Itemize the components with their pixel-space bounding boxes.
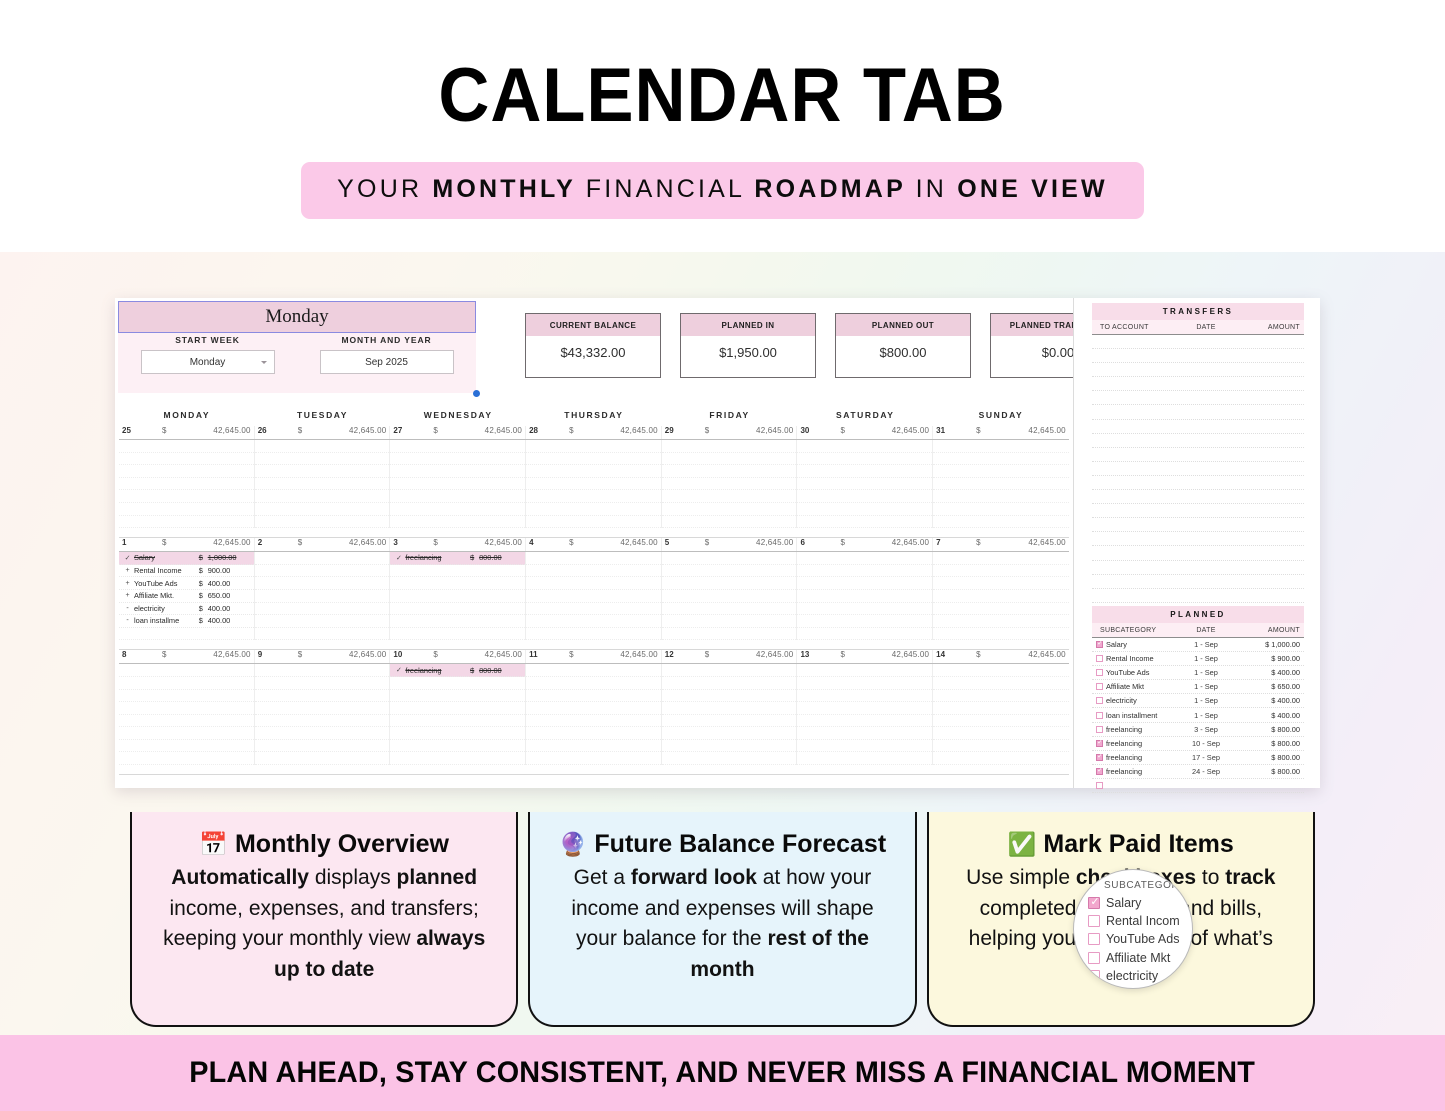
day-running-balance: $42,645.00 [148,426,251,435]
empty-row [119,490,254,503]
selected-cell-title[interactable]: Monday [118,301,476,333]
magnified-label: Rental Incom [1106,914,1180,928]
empty-row [526,503,661,516]
day-cell[interactable] [390,440,526,528]
empty-row [933,516,1069,529]
empty-row [662,664,797,677]
transfers-col-to-account: TO ACCOUNT [1092,324,1178,331]
day-cell[interactable]: ✓Salary$1,000.00+Rental Income$900.00+Yo… [119,552,255,640]
transaction-marker[interactable]: + [121,567,134,574]
summary-card-value: $1,950.00 [681,336,815,379]
planned-row-checkbox[interactable] [1092,655,1106,662]
day-cell[interactable] [797,664,933,765]
day-header-cell[interactable]: 27$42,645.00 [390,426,526,439]
planned-row-subcategory: electricity [1106,696,1178,705]
transaction-currency: $ [199,566,208,575]
transfer-row[interactable] [1092,405,1304,419]
day-number-row: 7$42,645.00 [933,538,1069,551]
transaction-row[interactable]: +Affiliate Mkt.$650.00 [119,590,254,603]
day-header-cell[interactable]: 5$42,645.00 [662,538,798,551]
planned-rows: Salary1 - Sep$ 1,000.00Rental Income1 - … [1092,638,1304,793]
transfers-panel: TRANSFERS TO ACCOUNT DATE AMOUNT [1092,303,1304,620]
day-header-cell[interactable]: 11$42,645.00 [526,650,662,663]
day-header-cell[interactable]: 31$42,645.00 [933,426,1069,439]
transfer-row[interactable] [1092,589,1304,603]
summary-card-value: $43,332.00 [526,336,660,379]
day-running-balance: $42,645.00 [148,538,251,547]
empty-row [662,516,797,529]
empty-row [797,490,932,503]
planned-row-date: 24 - Sep [1178,767,1234,776]
empty-row [119,440,254,453]
transaction-row[interactable]: ✓freelancing$800.00 [390,664,525,677]
day-number-row: 4$42,645.00 [526,538,661,551]
day-running-balance: $42,645.00 [148,650,251,659]
planned-row-checkbox[interactable] [1092,782,1106,789]
empty-row [933,727,1069,740]
empty-row [933,478,1069,491]
planned-row[interactable]: freelancing10 - Sep$ 800.00 [1092,737,1304,751]
planned-row[interactable]: Rental Income1 - Sep$ 900.00 [1092,652,1304,666]
transaction-marker[interactable]: ✓ [392,554,405,562]
transfer-row[interactable] [1092,561,1304,575]
screenshot-stage: Monday START WEEK Monday MONTH AND YEAR … [0,252,1445,1035]
planned-row-subcategory: YouTube Ads [1106,668,1178,677]
empty-row [255,503,390,516]
feature-card-title: 🔮 Future Balance Forecast [552,830,892,859]
empty-row [119,727,254,740]
empty-row [390,453,525,466]
transaction-row[interactable]: -loan installme$400.00 [119,615,254,628]
day-number-row: 11$42,645.00 [526,650,661,663]
day-running-balance: $42,645.00 [691,538,794,547]
day-header-cell[interactable]: 10$42,645.00 [390,650,526,663]
day-number: 11 [529,650,555,659]
empty-row [797,440,932,453]
transfers-col-amount: AMOUNT [1234,324,1304,331]
transfer-row[interactable] [1092,476,1304,490]
transaction-currency: $ [199,579,208,588]
magnified-checkbox[interactable] [1082,897,1106,909]
empty-row [933,740,1069,753]
magnified-label: Salary [1106,896,1141,910]
empty-row [662,702,797,715]
empty-row [119,453,254,466]
planned-row[interactable]: YouTube Ads1 - Sep$ 400.00 [1092,666,1304,680]
planned-columns: SUBCATEGORY DATE AMOUNT [1092,623,1304,638]
day-cell[interactable] [933,440,1069,528]
day-cell[interactable] [662,440,798,528]
day-header-cell[interactable]: 8$42,645.00 [119,650,255,663]
week-separator [119,765,1069,775]
empty-row [797,603,932,616]
day-header-cell[interactable]: 26$42,645.00 [255,426,391,439]
weekday-label: SUNDAY [933,410,1069,420]
month-year-field: MONTH AND YEAR Sep 2025 [297,335,476,374]
day-header-cell[interactable]: 1$42,645.00 [119,538,255,551]
planned-row-date: 1 - Sep [1178,668,1234,677]
page-title: CALENDAR TAB [439,58,1006,134]
empty-row [933,565,1069,578]
planned-row[interactable]: freelancing24 - Sep$ 800.00 [1092,765,1304,779]
transfer-row[interactable] [1092,434,1304,448]
feature-card-body: Automatically displays planned income, e… [154,863,494,986]
day-cell[interactable] [526,664,662,765]
day-running-balance: $42,645.00 [284,426,387,435]
day-cell[interactable]: ✓freelancing$800.00 [390,664,526,765]
transfer-row[interactable] [1092,349,1304,363]
day-number: 2 [258,538,284,547]
day-number-row: 8$42,645.00 [119,650,254,663]
empty-row [662,615,797,628]
empty-row [526,603,661,616]
day-header-cell[interactable]: 28$42,645.00 [526,426,662,439]
calendar-week: 1$42,645.002$42,645.003$42,645.004$42,64… [119,538,1069,650]
day-header-cell[interactable]: 4$42,645.00 [526,538,662,551]
planned-col-date: DATE [1178,627,1234,634]
spreadsheet-screenshot: Monday START WEEK Monday MONTH AND YEAR … [115,298,1320,788]
transaction-marker[interactable]: ✓ [121,554,134,562]
transaction-name: YouTube Ads [134,579,199,588]
empty-row [933,552,1069,565]
day-header-cell[interactable]: 12$42,645.00 [662,650,798,663]
planned-row[interactable]: electricity1 - Sep$ 400.00 [1092,694,1304,708]
magnifier-rows: SalaryRental IncomYouTube AdsAffiliate M… [1082,894,1193,985]
transaction-row[interactable]: +Rental Income$900.00 [119,565,254,578]
check-mark-icon: ✅ [1008,831,1037,857]
transaction-currency: $ [199,604,208,613]
empty-row [390,628,525,641]
planned-row-amount: $ 1,000.00 [1234,640,1304,649]
side-panels: TRANSFERS TO ACCOUNT DATE AMOUNT PLANNED… [1073,298,1320,788]
day-header-cell[interactable]: 25$42,645.00 [119,426,255,439]
planned-title: PLANNED [1092,606,1304,623]
empty-row [526,516,661,529]
day-number: 13 [800,650,826,659]
empty-row [255,715,390,728]
day-header-cell[interactable]: 9$42,645.00 [255,650,391,663]
calendar-grid: 25$42,645.0026$42,645.0027$42,645.0028$4… [119,426,1069,775]
empty-row [662,590,797,603]
empty-row [797,690,932,703]
transaction-name: freelancing [405,553,470,562]
transaction-amount: 650.00 [208,591,254,600]
transaction-marker[interactable]: - [121,617,134,624]
transfer-row[interactable] [1092,504,1304,518]
planned-row-subcategory: Affiliate Mkt [1106,682,1178,691]
planned-row-amount: $ 800.00 [1234,725,1304,734]
cell-fill-handle[interactable] [473,390,480,397]
summary-card: PLANNED OUT$800.00 [835,313,971,378]
day-running-balance: $42,645.00 [555,426,658,435]
magnified-planned-row[interactable]: electricity [1082,967,1193,985]
empty-row [255,565,390,578]
weekday-label: FRIDAY [662,410,798,420]
empty-row [526,440,661,453]
footer-text: PLAN AHEAD, STAY CONSISTENT, AND NEVER M… [190,1056,1256,1090]
transfer-row[interactable] [1092,391,1304,405]
magnified-checkbox[interactable] [1082,933,1106,945]
week-date-bar: 8$42,645.009$42,645.0010$42,645.0011$42,… [119,650,1069,664]
month-year-label: MONTH AND YEAR [297,335,476,345]
transaction-marker[interactable]: ✓ [392,666,405,674]
day-number-row: 1$42,645.00 [119,538,254,551]
empty-row [797,727,932,740]
empty-row [526,664,661,677]
empty-row [797,552,932,565]
empty-row [119,478,254,491]
day-header-cell[interactable]: 30$42,645.00 [797,426,933,439]
day-cell[interactable] [526,440,662,528]
day-number-row: 27$42,645.00 [390,426,525,439]
transaction-marker[interactable]: + [121,592,134,599]
transaction-amount: 900.00 [208,566,254,575]
transaction-amount: 400.00 [208,604,254,613]
planned-row[interactable]: Affiliate Mkt1 - Sep$ 650.00 [1092,680,1304,694]
planned-row[interactable]: Salary1 - Sep$ 1,000.00 [1092,638,1304,652]
empty-row [526,590,661,603]
empty-row [526,727,661,740]
empty-row [933,490,1069,503]
day-cell[interactable] [933,664,1069,765]
empty-row [662,727,797,740]
planned-row-checkbox[interactable] [1092,669,1106,676]
week-separator [119,640,1069,650]
empty-row [933,603,1069,616]
day-number: 3 [393,538,419,547]
planned-row-checkbox[interactable] [1092,712,1106,719]
transaction-row[interactable]: -electricity$400.00 [119,603,254,616]
weekday-label: WEDNESDAY [390,410,526,420]
day-number: 25 [122,426,148,435]
magnified-planned-row[interactable]: YouTube Ads [1082,930,1193,948]
empty-row [255,664,390,677]
day-header-cell[interactable]: 29$42,645.00 [662,426,798,439]
magnifier-loupe: SUBCATEGORY SalaryRental IncomYouTube Ad… [1073,869,1193,989]
day-cell[interactable]: ✓freelancing$800.00 [390,552,526,640]
day-cell[interactable] [662,552,798,640]
day-cell[interactable] [662,664,798,765]
empty-row [255,740,390,753]
empty-row [662,552,797,565]
empty-row [255,752,390,765]
summary-card: CURRENT BALANCE$43,332.00 [525,313,661,378]
transfers-rows [1092,335,1304,617]
start-week-value: Monday [190,357,226,368]
magnified-checkbox[interactable] [1082,915,1106,927]
empty-row [255,465,390,478]
day-number-row: 28$42,645.00 [526,426,661,439]
transfer-row[interactable] [1092,546,1304,560]
day-number-row: 9$42,645.00 [255,650,390,663]
empty-row [797,628,932,641]
transfer-row[interactable] [1092,575,1304,589]
day-number: 28 [529,426,555,435]
empty-row [933,628,1069,641]
empty-row [119,465,254,478]
transaction-row[interactable]: ✓Salary$1,000.00 [119,552,254,565]
magnified-checkbox[interactable] [1082,952,1106,964]
day-number: 31 [936,426,962,435]
empty-row [526,677,661,690]
transaction-row[interactable]: +YouTube Ads$400.00 [119,577,254,590]
empty-row [526,628,661,641]
empty-row [933,577,1069,590]
empty-row [255,552,390,565]
magnified-checkbox[interactable] [1082,970,1106,982]
transaction-name: Salary [134,553,199,562]
day-running-balance: $42,645.00 [284,650,387,659]
day-cell[interactable] [797,440,933,528]
day-cell[interactable] [255,664,391,765]
month-year-value: Sep 2025 [365,357,408,368]
empty-row [119,677,254,690]
summary-card: PLANNED IN$1,950.00 [680,313,816,378]
transfer-row[interactable] [1092,518,1304,532]
magnified-planned-row[interactable]: Salary [1082,894,1193,912]
day-cell[interactable] [933,552,1069,640]
empty-row [933,715,1069,728]
planned-row-subcategory: loan installment [1106,711,1178,720]
day-running-balance: $42,645.00 [962,650,1066,659]
planned-row[interactable]: freelancing17 - Sep$ 800.00 [1092,751,1304,765]
planned-row-amount: $ 400.00 [1234,668,1304,677]
empty-row [526,740,661,753]
planned-row[interactable]: loan installment1 - Sep$ 400.00 [1092,708,1304,722]
month-year-input[interactable]: Sep 2025 [320,350,454,374]
day-number: 8 [122,650,148,659]
transfer-row[interactable] [1092,420,1304,434]
empty-row [933,615,1069,628]
day-number-row: 6$42,645.00 [797,538,932,551]
weekday-label: TUESDAY [255,410,391,420]
day-running-balance: $42,645.00 [691,650,794,659]
empty-row [662,503,797,516]
day-header-cell[interactable]: 14$42,645.00 [933,650,1069,663]
planned-row-subcategory: freelancing [1106,739,1178,748]
day-running-balance: $42,645.00 [962,426,1066,435]
day-header-cell[interactable]: 7$42,645.00 [933,538,1069,551]
empty-row [255,690,390,703]
magnified-planned-row[interactable]: Affiliate Mkt [1082,949,1193,967]
magnified-label: electricity [1106,969,1158,983]
empty-row [526,690,661,703]
day-header-cell[interactable]: 2$42,645.00 [255,538,391,551]
week-date-bar: 25$42,645.0026$42,645.0027$42,645.0028$4… [119,426,1069,440]
day-cell[interactable] [119,440,255,528]
day-number-row: 10$42,645.00 [390,650,525,663]
day-number: 7 [936,538,962,547]
planned-row-subcategory: freelancing [1106,767,1178,776]
empty-row [797,702,932,715]
transaction-name: electricity [134,604,199,613]
day-header-cell[interactable]: 6$42,645.00 [797,538,933,551]
planned-row-date: 1 - Sep [1178,640,1234,649]
subtitle-banner: YOUR MONTHLY FINANCIAL ROADMAP IN ONE VI… [301,162,1144,219]
planned-row-checkbox[interactable] [1092,740,1106,747]
transfer-row[interactable] [1092,532,1304,546]
transaction-row[interactable]: ✓freelancing$800.00 [390,552,525,565]
day-cell[interactable] [255,552,391,640]
planned-row-subcategory: Rental Income [1106,654,1178,663]
day-header-cell[interactable]: 13$42,645.00 [797,650,933,663]
transaction-currency: $ [199,616,208,625]
empty-row [255,577,390,590]
planned-row-checkbox[interactable] [1092,768,1106,775]
empty-row [255,628,390,641]
planned-row[interactable]: freelancing3 - Sep$ 800.00 [1092,723,1304,737]
day-number: 26 [258,426,284,435]
empty-row [662,628,797,641]
day-cell[interactable] [797,552,933,640]
empty-row [662,603,797,616]
empty-row [255,478,390,491]
feature-card-body: Get a forward look at how your income an… [552,863,892,986]
transfer-row[interactable] [1092,462,1304,476]
magnified-planned-row[interactable]: Rental Incom [1082,912,1193,930]
empty-row [119,516,254,529]
empty-row [797,615,932,628]
calendar-sheet: Monday START WEEK Monday MONTH AND YEAR … [115,298,1073,788]
day-cell[interactable] [119,664,255,765]
transfer-row[interactable] [1092,335,1304,349]
transaction-marker[interactable]: - [121,605,134,612]
feature-card: 🔮 Future Balance ForecastGet a forward l… [528,812,916,1027]
page-header: CALENDAR TAB YOUR MONTHLY FINANCIAL ROAD… [0,0,1445,252]
empty-row [797,516,932,529]
weekday-label: THURSDAY [526,410,662,420]
empty-row [526,752,661,765]
empty-row [662,577,797,590]
transfer-row[interactable] [1092,490,1304,504]
transfer-row[interactable] [1092,377,1304,391]
transfer-row[interactable] [1092,363,1304,377]
planned-row-checkbox[interactable] [1092,697,1106,704]
day-cell[interactable] [526,552,662,640]
day-cell[interactable] [255,440,391,528]
empty-row [797,677,932,690]
start-week-label: START WEEK [118,335,297,345]
start-week-select[interactable]: Monday [141,350,275,374]
empty-row [255,453,390,466]
planned-row-checkbox[interactable] [1092,641,1106,648]
transfer-row[interactable] [1092,448,1304,462]
empty-row [390,615,525,628]
empty-row [255,490,390,503]
planned-row-checkbox[interactable] [1092,683,1106,690]
transaction-marker[interactable]: + [121,580,134,587]
planned-row-checkbox[interactable] [1092,754,1106,761]
empty-row [797,478,932,491]
planned-panel: PLANNED SUBCATEGORY DATE AMOUNT Salary1 … [1092,606,1304,793]
transaction-amount: 800.00 [479,553,525,562]
day-header-cell[interactable]: 3$42,645.00 [390,538,526,551]
transfers-col-date: DATE [1178,324,1234,331]
empty-row [797,590,932,603]
day-number-row: 3$42,645.00 [390,538,525,551]
planned-row[interactable] [1092,779,1304,793]
planned-row-checkbox[interactable] [1092,726,1106,733]
empty-row [390,565,525,578]
transaction-currency: $ [470,553,479,562]
empty-row [255,516,390,529]
empty-row [390,590,525,603]
planned-row-date: 3 - Sep [1178,725,1234,734]
empty-row [119,715,254,728]
empty-row [662,565,797,578]
day-number-row: 30$42,645.00 [797,426,932,439]
planned-row-amount: $ 800.00 [1234,739,1304,748]
